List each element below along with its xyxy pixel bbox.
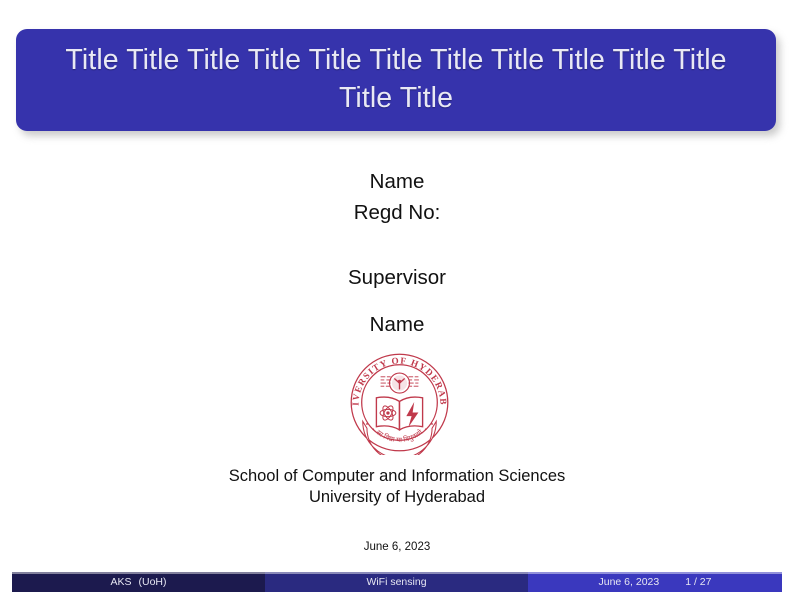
footer-page-number: 1 / 27: [685, 576, 711, 588]
institute-university: University of Hyderabad: [0, 487, 794, 508]
beamer-footline: AKS (UoH) WiFi sensing June 6, 2023 1 / …: [12, 572, 782, 592]
author-regd-no: Regd No:: [0, 203, 794, 224]
footer-date: June 6, 2023: [599, 576, 660, 588]
title-block: Title Title Title Title Title Title Titl…: [16, 29, 776, 131]
institute-school: School of Computer and Information Scien…: [0, 466, 794, 487]
footer-subject-segment[interactable]: WiFi sensing: [265, 572, 528, 592]
footer-date-page-segment[interactable]: June 6, 2023 1 / 27: [528, 572, 782, 592]
footer-author-affiliation: (UoH): [139, 576, 167, 588]
university-logo: UNIVERSITY OF HYDERABAD सा विद्या या विम…: [347, 350, 452, 455]
supervisor-label: Supervisor: [0, 268, 794, 289]
institute-block: School of Computer and Information Scien…: [0, 466, 794, 507]
footer-subject: WiFi sensing: [366, 576, 426, 588]
supervisor-name: Name: [0, 315, 794, 336]
author-name: Name: [0, 172, 794, 193]
footer-author-short: AKS: [110, 576, 131, 588]
author-block: Name Regd No: Supervisor Name: [0, 172, 794, 335]
footer-author-segment[interactable]: AKS (UoH): [12, 572, 265, 592]
page-title: Title Title Title Title Title Title Titl…: [38, 42, 754, 118]
presentation-title-slide: Title Title Title Title Title Title Titl…: [0, 0, 794, 596]
presentation-date: June 6, 2023: [0, 541, 794, 553]
title-block-panel: Title Title Title Title Title Title Titl…: [16, 29, 776, 131]
university-seal-icon: UNIVERSITY OF HYDERABAD सा विद्या या विम…: [347, 350, 452, 455]
